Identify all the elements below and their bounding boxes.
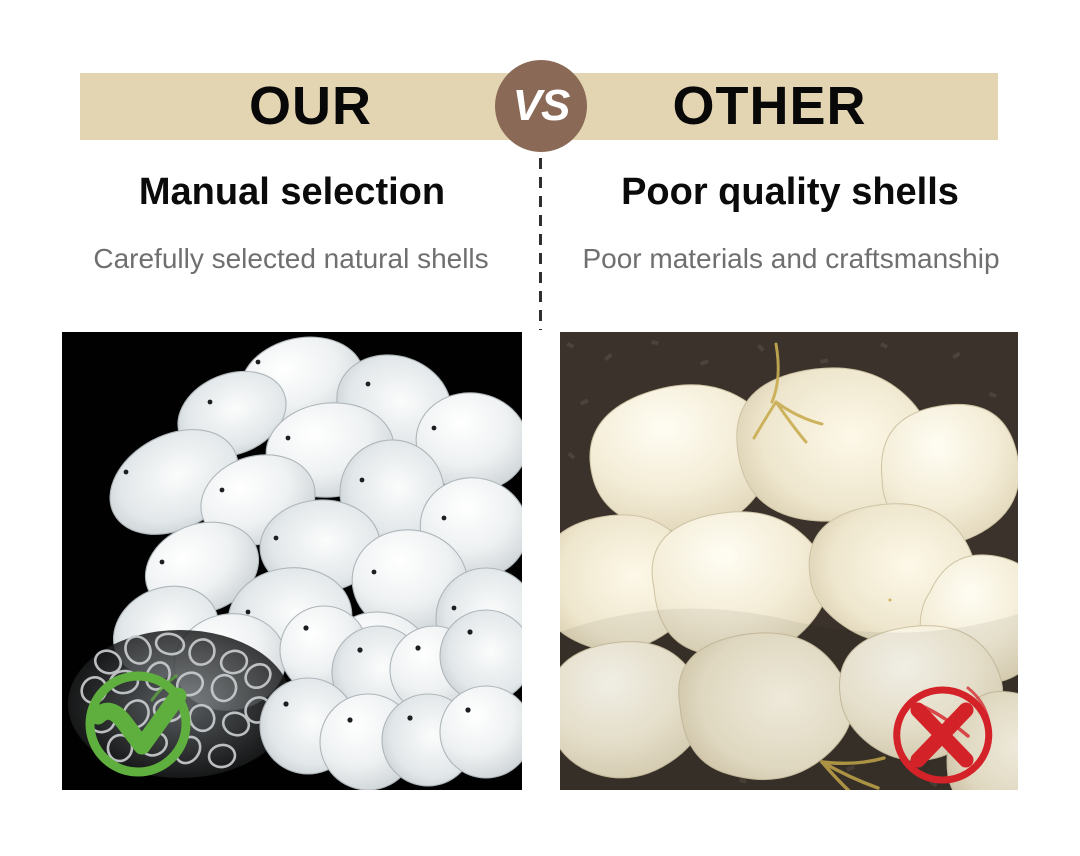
right-column-subtitle: Poor materials and craftsmanship bbox=[553, 239, 1029, 279]
comparison-infographic: OUR OTHER VS Manual selection Carefully … bbox=[0, 0, 1080, 856]
check-mark-badge bbox=[78, 662, 198, 782]
left-column-heading: Manual selection bbox=[62, 166, 522, 218]
banner-label-our: OUR bbox=[80, 73, 541, 140]
right-column-heading: Poor quality shells bbox=[560, 166, 1020, 218]
vs-badge: VS bbox=[495, 60, 587, 152]
banner-label-other: OTHER bbox=[541, 73, 998, 140]
cross-mark-badge bbox=[888, 684, 998, 788]
column-divider bbox=[539, 158, 542, 330]
left-column-subtitle: Carefully selected natural shells bbox=[55, 239, 527, 279]
